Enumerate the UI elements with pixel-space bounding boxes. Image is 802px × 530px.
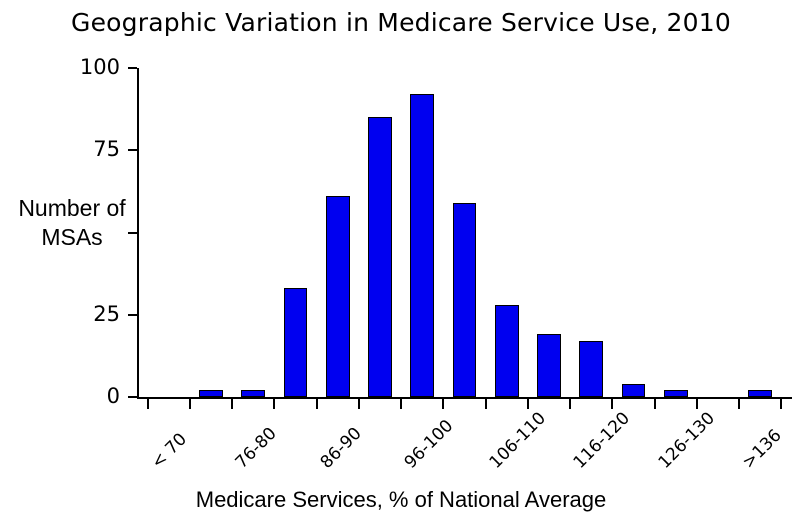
x-axis-tick	[358, 399, 360, 409]
x-axis-tick-label: < 70	[149, 431, 190, 472]
bar	[748, 390, 772, 397]
x-axis-tick-label: 96-100	[402, 417, 457, 472]
x-axis-tick-label: >136	[740, 427, 785, 472]
x-axis-tick	[696, 399, 698, 409]
bar	[453, 203, 477, 397]
x-axis-title: Medicare Services, % of National Average	[0, 487, 802, 513]
bar	[579, 341, 603, 397]
x-axis-tick	[611, 399, 613, 409]
x-axis-tick	[189, 399, 191, 409]
bar	[284, 288, 308, 397]
bar	[368, 117, 392, 397]
y-axis-tick-label: 0	[0, 386, 120, 407]
y-axis-tick-label: 100	[0, 57, 120, 78]
x-axis-tick	[527, 399, 529, 409]
x-axis-tick	[654, 399, 656, 409]
bar	[326, 196, 350, 397]
bar	[241, 390, 265, 397]
x-axis-tick-label: 116-120	[571, 410, 633, 472]
y-axis-tick	[128, 67, 137, 69]
y-axis-tick	[128, 149, 137, 151]
bar	[622, 384, 646, 397]
x-axis-tick	[442, 399, 444, 409]
bar	[410, 94, 434, 397]
bar	[537, 334, 561, 397]
bar	[664, 390, 688, 397]
y-axis-tick	[128, 314, 137, 316]
x-axis-tick-label: 106-110	[487, 410, 549, 472]
bar	[199, 390, 223, 397]
x-axis-tick-label: 126-130	[656, 410, 718, 472]
bar	[495, 305, 519, 397]
chart-container: Geographic Variation in Medicare Service…	[0, 0, 802, 530]
y-axis-title-line-2: MSAs	[2, 223, 142, 252]
y-axis-title: Number of MSAs	[2, 194, 142, 252]
x-axis-tick	[273, 399, 275, 409]
y-axis-tick-label: 75	[0, 139, 120, 160]
y-axis-tick-label: 25	[0, 304, 120, 325]
x-axis-tick	[316, 399, 318, 409]
x-axis-tick-label: 76-80	[233, 425, 280, 472]
x-axis-tick	[738, 399, 740, 409]
x-axis-tick-label: 86-90	[318, 425, 365, 472]
x-axis-tick	[569, 399, 571, 409]
x-axis-tick	[485, 399, 487, 409]
x-axis-line	[137, 397, 792, 399]
x-axis-tick	[780, 399, 782, 409]
x-axis-tick	[400, 399, 402, 409]
y-axis-tick	[128, 396, 137, 398]
y-axis-title-line-1: Number of	[2, 194, 142, 223]
chart-title: Geographic Variation in Medicare Service…	[0, 8, 802, 37]
x-axis-tick	[231, 399, 233, 409]
x-axis-tick	[147, 399, 149, 409]
